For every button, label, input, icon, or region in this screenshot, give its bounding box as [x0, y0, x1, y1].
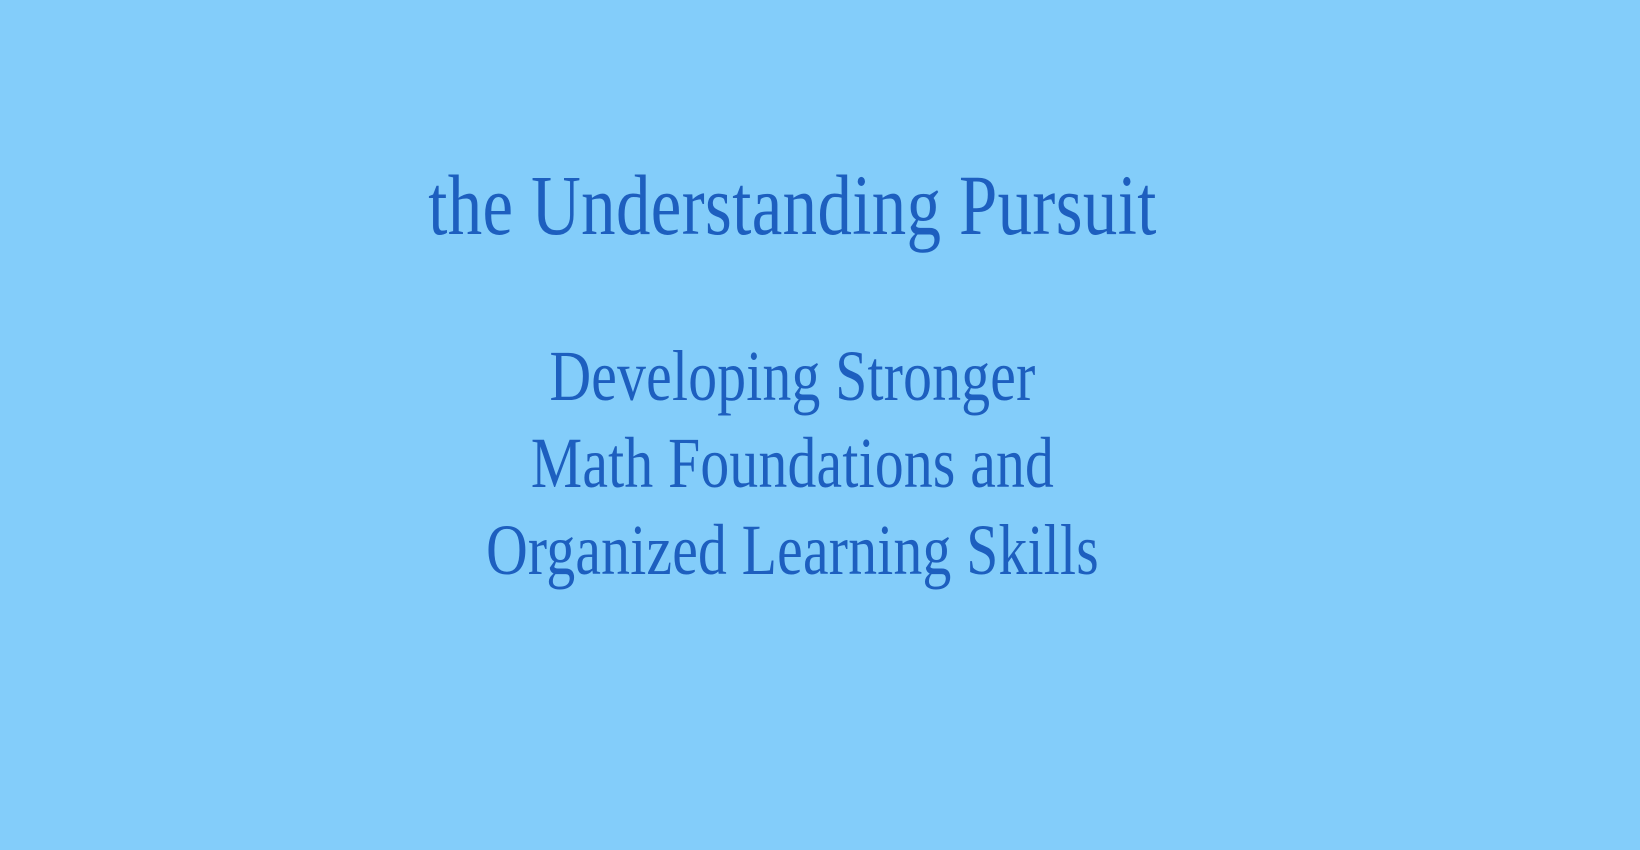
subtitle-line-1: Developing Stronger — [159, 333, 1427, 420]
slide-subtitle: Developing Stronger Math Foundations and… — [159, 333, 1427, 594]
subtitle-line-3: Organized Learning Skills — [159, 507, 1427, 594]
title-slide: the Understanding Pursuit Developing Str… — [0, 0, 1640, 850]
subtitle-line-2: Math Foundations and — [159, 420, 1427, 507]
page-title: the Understanding Pursuit — [159, 150, 1427, 260]
